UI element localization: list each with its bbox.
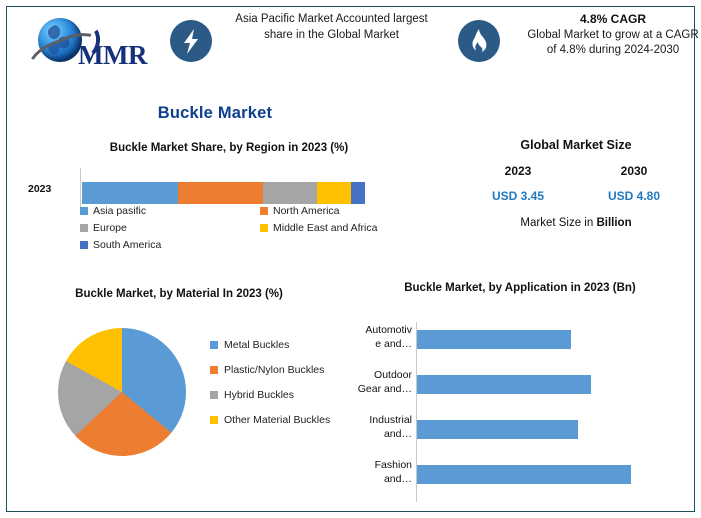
application-bar (417, 420, 578, 439)
cagr-value: 4.8% CAGR (524, 12, 701, 28)
material-legend-item-0: Metal Buckles (210, 338, 350, 352)
market-size-unit-strong: Billion (596, 217, 631, 229)
infographic-frame: MMR Asia Pacific Market Accounted larges… (0, 0, 701, 518)
region-legend-item-3: Middle East and Africa (260, 221, 440, 235)
header: MMR Asia Pacific Market Accounted larges… (10, 8, 691, 94)
region-segment-3 (317, 182, 351, 204)
region-legend-label: North America (273, 204, 340, 218)
application-category-label-line: Outdoor (348, 369, 412, 383)
legend-swatch-icon (80, 241, 88, 249)
region-legend-item-4: South America (80, 238, 260, 252)
global-market-size-years: 2023 2030 (460, 164, 692, 178)
header-highlight-1-text: Asia Pacific Market Accounted largest sh… (224, 12, 439, 43)
material-pie (58, 328, 186, 456)
region-segment-0 (82, 182, 178, 204)
application-category-label-line: Fashion (348, 459, 412, 473)
header-highlight-1: Asia Pacific Market Accounted largest sh… (170, 12, 445, 62)
legend-swatch-icon (210, 366, 218, 374)
value-2023: USD 3.45 (460, 189, 576, 203)
region-legend-label: Middle East and Africa (273, 221, 377, 235)
application-category-label: Automotive and… (348, 324, 412, 351)
application-category-label-line: Gear and… (348, 383, 412, 397)
legend-swatch-icon (210, 391, 218, 399)
year-2023-label: 2023 (460, 164, 576, 178)
application-category-label-line: e and… (348, 338, 412, 352)
market-size-unit: Market Size in Billion (460, 217, 692, 229)
header-highlight-2-text: Global Market to grow at a CAGR of 4.8% … (527, 29, 698, 57)
region-legend-item-2: Europe (80, 221, 260, 235)
application-category-label: Industrialand… (348, 414, 412, 441)
value-2030: USD 4.80 (576, 189, 692, 203)
material-legend-label: Plastic/Nylon Buckles (224, 363, 324, 377)
year-2030-label: 2030 (576, 164, 692, 178)
application-bar (417, 465, 631, 484)
application-category-label-line: and… (348, 473, 412, 487)
legend-swatch-icon (80, 224, 88, 232)
material-share-chart: Buckle Market, by Material In 2023 (%) M… (14, 288, 354, 514)
application-row: OutdoorGear and… (348, 367, 684, 412)
application-category-label-line: and… (348, 428, 412, 442)
legend-swatch-icon (80, 207, 88, 215)
region-chart-title: Buckle Market Share, by Region in 2023 (… (14, 142, 444, 154)
application-bar (417, 375, 591, 394)
header-highlight-2: 4.8% CAGR Global Market to grow at a CAG… (458, 12, 701, 62)
region-legend: Asia pasificNorth AmericaEuropeMiddle Ea… (80, 204, 440, 255)
region-legend-item-0: Asia pasific (80, 204, 260, 218)
application-category-label: Fashionand… (348, 459, 412, 486)
material-legend: Metal BucklesPlastic/Nylon BucklesHybrid… (210, 338, 350, 438)
region-stacked-bar (82, 182, 365, 204)
material-legend-label: Other Material Buckles (224, 413, 330, 427)
region-legend-item-1: North America (260, 204, 440, 218)
brand-name: MMR (78, 40, 147, 71)
region-legend-label: Asia pasific (93, 204, 146, 218)
page-title: Buckle Market (0, 104, 430, 123)
application-row: Automotive and… (348, 322, 684, 367)
legend-swatch-icon (210, 341, 218, 349)
legend-swatch-icon (260, 224, 268, 232)
legend-swatch-icon (210, 416, 218, 424)
global-market-size-title: Global Market Size (460, 138, 692, 152)
application-chart: Buckle Market, by Application in 2023 (B… (348, 280, 692, 514)
header-highlight-2-block: 4.8% CAGR Global Market to grow at a CAG… (512, 12, 701, 59)
application-row: Fashionand… (348, 457, 684, 502)
material-legend-label: Hybrid Buckles (224, 388, 294, 402)
lightning-bolt-icon (170, 20, 212, 62)
global-market-size-panel: Global Market Size 2023 2030 USD 3.45 US… (460, 138, 692, 229)
application-category-label-line: Industrial (348, 414, 412, 428)
application-row: Industrialand… (348, 412, 684, 457)
material-legend-label: Metal Buckles (224, 338, 289, 352)
region-segment-1 (178, 182, 263, 204)
material-legend-item-3: Other Material Buckles (210, 413, 350, 427)
global-market-size-values: USD 3.45 USD 4.80 (460, 189, 692, 203)
application-bar (417, 330, 571, 349)
application-plot-area: Automotive and…OutdoorGear and…Industria… (348, 322, 684, 502)
application-category-label-line: Automotiv (348, 324, 412, 338)
region-category-label: 2023 (28, 183, 51, 195)
material-legend-item-1: Plastic/Nylon Buckles (210, 363, 350, 377)
material-chart-title: Buckle Market, by Material In 2023 (%) (14, 288, 344, 300)
legend-swatch-icon (260, 207, 268, 215)
region-legend-label: Europe (93, 221, 127, 235)
brand-logo: MMR (20, 14, 160, 76)
market-size-unit-prefix: Market Size in (520, 217, 596, 229)
region-legend-label: South America (93, 238, 161, 252)
application-category-label: OutdoorGear and… (348, 369, 412, 396)
application-chart-title: Buckle Market, by Application in 2023 (B… (355, 280, 685, 296)
region-segment-2 (263, 182, 317, 204)
flame-icon (458, 20, 500, 62)
region-segment-4 (351, 182, 365, 204)
region-share-chart: Buckle Market Share, by Region in 2023 (… (14, 142, 444, 272)
material-legend-item-2: Hybrid Buckles (210, 388, 350, 402)
